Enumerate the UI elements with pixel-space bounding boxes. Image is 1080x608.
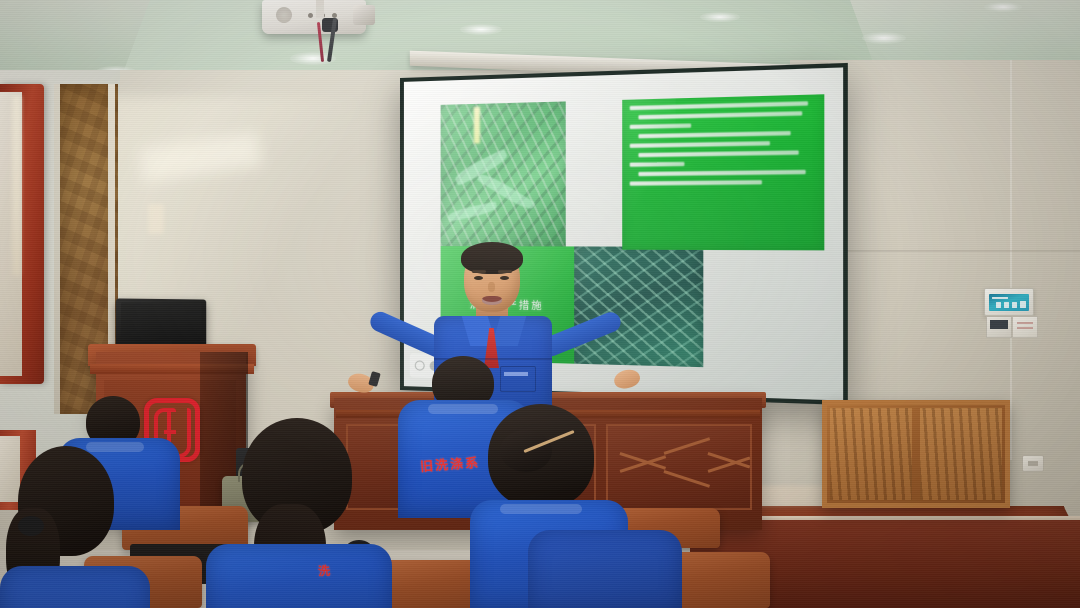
hair-scrunchie — [18, 516, 44, 536]
control-panel-display — [989, 294, 1029, 311]
cabinet-door-left[interactable] — [830, 408, 912, 500]
attendee-collar — [500, 504, 582, 514]
presenter-eyebrow — [498, 270, 512, 273]
ceiling-light-icon — [700, 12, 740, 22]
window-light-glow — [12, 96, 21, 276]
meeting-room-photo: 清洁生产措施 — [0, 0, 1080, 608]
slide-body-block — [622, 95, 824, 251]
column-highlight — [148, 204, 164, 234]
attendee-left-front — [0, 446, 144, 608]
projector-vent-icon — [276, 7, 292, 23]
sugarcane-field-photo — [440, 102, 566, 247]
hvac-control-panel[interactable] — [984, 288, 1034, 316]
power-outlet — [1022, 455, 1044, 472]
presenter-nose — [488, 282, 495, 292]
monitor-screen — [121, 303, 202, 342]
presenter-mouth — [482, 296, 502, 305]
uniform-back-text: 洗 — [317, 562, 332, 580]
attendee-right-edge — [528, 520, 678, 608]
presenter-eye — [474, 276, 483, 280]
projector-mount-arm — [316, 0, 324, 18]
ceiling-light-icon — [984, 2, 1022, 12]
ceiling-projector — [262, 0, 366, 34]
ceiling-light-icon — [460, 24, 502, 35]
attendee-front-ponytail: 洗 — [206, 418, 386, 608]
presenter-eye — [500, 276, 509, 280]
projector-lens — [353, 5, 375, 25]
presenter-eyebrow — [472, 270, 486, 273]
ceiling-light-icon — [862, 32, 906, 44]
attendee-uniform — [206, 544, 392, 608]
projector-button[interactable] — [308, 13, 313, 18]
attendee-uniform — [528, 530, 682, 608]
attendee-uniform — [0, 566, 150, 608]
light-switch[interactable] — [1012, 316, 1038, 338]
cabinet-door-right[interactable] — [920, 408, 1002, 500]
wall-cabinet[interactable] — [822, 400, 1010, 508]
wall-seam — [1010, 60, 1012, 460]
presenter-hair — [461, 242, 523, 274]
cane-highlight — [474, 107, 480, 144]
digital-thermostat[interactable] — [986, 316, 1012, 338]
